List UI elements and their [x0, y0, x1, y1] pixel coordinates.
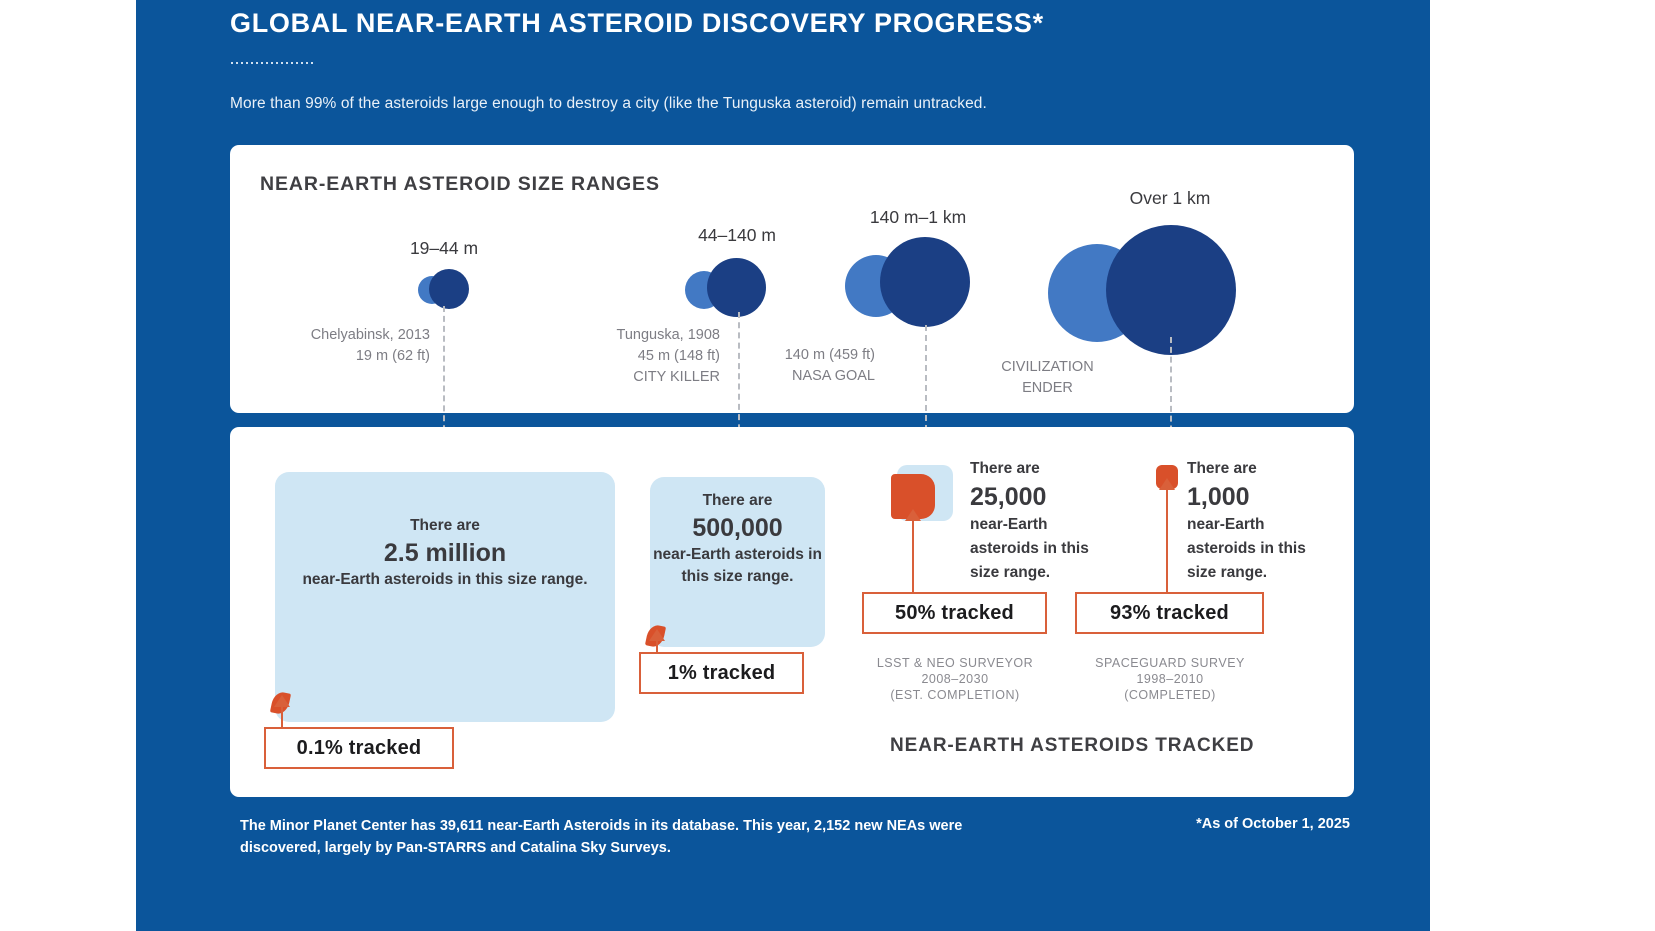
tracked-callout-label-4: 93% tracked — [1110, 602, 1229, 625]
leader-arrow-3 — [905, 509, 921, 521]
count-label-4: 1,000 — [1187, 481, 1337, 513]
tracked-callout-1-percent[interactable]: 1% tracked — [639, 652, 804, 694]
circle-dark-19-44m — [429, 269, 469, 309]
leader-arrow-4 — [1159, 478, 1175, 490]
population-box-2-5-million — [275, 472, 615, 722]
population-text-500000: There are 500,000 near-Earth asteroids i… — [650, 490, 825, 589]
intro-label-3: There are — [970, 460, 1040, 477]
count-label-3: 25,000 — [970, 481, 1110, 513]
circle-dark-44-140m — [707, 258, 766, 317]
tail-label-4: near-Earth asteroids in this size range. — [1187, 516, 1306, 581]
leader-arrow-2 — [649, 629, 665, 641]
tail-label-2: near-Earth asteroids in this size range. — [653, 546, 822, 586]
tracked-callout-50-percent[interactable]: 50% tracked — [862, 592, 1047, 634]
tracked-callout-label-1: 0.1% tracked — [297, 737, 422, 760]
intro-label-4: There are — [1187, 460, 1257, 477]
tail-label-3: near-Earth asteroids in this size range. — [970, 516, 1089, 581]
tracked-panel: There are 2.5 million near-Earth asteroi… — [230, 427, 1354, 797]
tracked-callout-label-2: 1% tracked — [668, 662, 776, 685]
page-subtitle: More than 99% of the asteroids large eno… — [230, 95, 1350, 113]
size-label-19-44m: 19–44 m — [410, 238, 478, 259]
intro-label-2: There are — [703, 492, 773, 509]
leader-line-4 — [1166, 489, 1168, 593]
leader-line-3 — [912, 520, 914, 593]
intro-label-1: There are — [410, 517, 480, 534]
size-label-over-1km: Over 1 km — [1130, 188, 1211, 209]
size-label-44-140m: 44–140 m — [698, 225, 776, 246]
tracked-panel-heading: NEAR-EARTH ASTEROIDS TRACKED — [890, 735, 1254, 757]
survey-note-spaceguard: SPACEGUARD SURVEY 1998–2010 (COMPLETED) — [1055, 655, 1285, 703]
size-note-44-140m: Tunguska, 1908 45 m (148 ft) CITY KILLER — [530, 325, 720, 388]
circle-dark-140m-1km — [880, 237, 970, 327]
tail-label-1: near-Earth asteroids in this size range. — [302, 571, 587, 588]
size-note-19-44m: Chelyabinsk, 2013 19 m (62 ft) — [230, 325, 430, 367]
count-label-1: 2.5 million — [275, 538, 615, 569]
size-label-140m-1km: 140 m–1 km — [870, 207, 966, 228]
tracked-callout-93-percent[interactable]: 93% tracked — [1075, 592, 1264, 634]
size-note-over-1km: CIVILIZATION ENDER — [950, 357, 1145, 399]
dotted-rule-decoration — [231, 56, 315, 70]
circle-dark-over-1km — [1106, 225, 1236, 355]
size-ranges-panel: NEAR-EARTH ASTEROID SIZE RANGES 19–44 m … — [230, 145, 1354, 413]
leader-arrow-1 — [274, 695, 290, 707]
survey-note-lsst: LSST & NEO SURVEYOR 2008–2030 (EST. COMP… — [840, 655, 1070, 703]
tracked-callout-0-1-percent[interactable]: 0.1% tracked — [264, 727, 454, 769]
page-title: GLOBAL NEAR-EARTH ASTEROID DISCOVERY PRO… — [230, 8, 1330, 39]
size-note-140m-1km: 140 m (459 ft) NASA GOAL — [720, 345, 875, 387]
tracked-callout-label-3: 50% tracked — [895, 602, 1014, 625]
infographic-root: GLOBAL NEAR-EARTH ASTEROID DISCOVERY PRO… — [0, 0, 1655, 931]
population-text-1000: There are 1,000 near-Earth asteroids in … — [1187, 457, 1337, 585]
footer-source-note: The Minor Planet Center has 39,611 near-… — [240, 815, 1030, 859]
count-label-2: 500,000 — [650, 513, 825, 544]
footer-as-of-note: *As of October 1, 2025 — [1060, 816, 1350, 832]
size-ranges-heading: NEAR-EARTH ASTEROID SIZE RANGES — [260, 173, 660, 196]
population-text-25000: There are 25,000 near-Earth asteroids in… — [970, 457, 1110, 585]
population-text-2-5-million: There are 2.5 million near-Earth asteroi… — [275, 515, 615, 591]
